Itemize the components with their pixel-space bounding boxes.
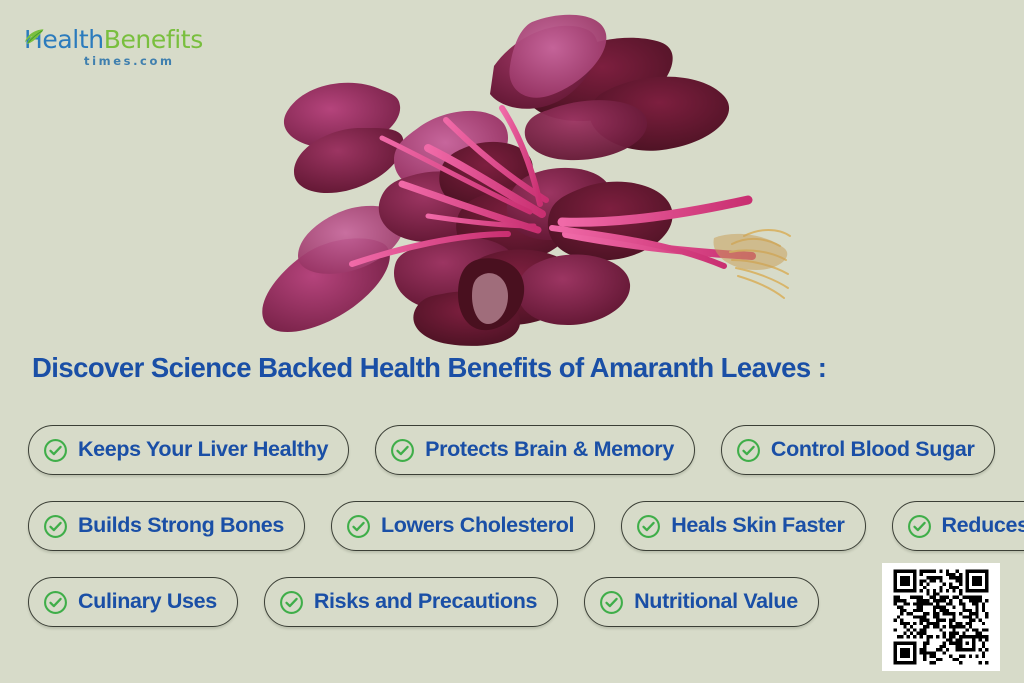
- check-circle-icon: [907, 514, 932, 539]
- check-circle-icon: [599, 590, 624, 615]
- benefit-pill-nutritional-value[interactable]: Nutritional Value: [584, 577, 819, 627]
- benefit-pill-reduces-swelling[interactable]: Reduces Swelling: [892, 501, 1024, 551]
- check-circle-icon: [43, 438, 68, 463]
- benefit-label: Reduces Swelling: [942, 515, 1024, 537]
- qr-code[interactable]: [882, 563, 1000, 671]
- benefit-pill-control-blood-sugar[interactable]: Control Blood Sugar: [721, 425, 996, 475]
- site-logo[interactable]: HealthBenefits times.com: [24, 26, 224, 76]
- check-circle-icon: [736, 438, 761, 463]
- benefits-row-1: Keeps Your Liver Healthy Protects Brain …: [28, 425, 1008, 475]
- benefit-label: Heals Skin Faster: [671, 515, 844, 537]
- benefit-label: Culinary Uses: [78, 591, 217, 613]
- benefit-pill-keeps-your-liver-healthy[interactable]: Keeps Your Liver Healthy: [28, 425, 349, 475]
- benefit-label: Nutritional Value: [634, 591, 798, 613]
- check-circle-icon: [43, 514, 68, 539]
- benefit-pill-culinary-uses[interactable]: Culinary Uses: [28, 577, 238, 627]
- benefit-label: Lowers Cholesterol: [381, 515, 574, 537]
- page-title: Discover Science Backed Health Benefits …: [32, 352, 992, 384]
- benefit-pill-protects-brain-and-memory[interactable]: Protects Brain & Memory: [375, 425, 695, 475]
- check-circle-icon: [636, 514, 661, 539]
- benefit-pill-risks-and-precautions[interactable]: Risks and Precautions: [264, 577, 558, 627]
- benefit-label: Protects Brain & Memory: [425, 439, 674, 461]
- benefit-pill-heals-skin-faster[interactable]: Heals Skin Faster: [621, 501, 865, 551]
- check-circle-icon: [43, 590, 68, 615]
- benefit-pill-builds-strong-bones[interactable]: Builds Strong Bones: [28, 501, 305, 551]
- benefit-pill-lowers-cholesterol[interactable]: Lowers Cholesterol: [331, 501, 595, 551]
- logo-subtext: times.com: [84, 54, 224, 68]
- logo-wordmark: HealthBenefits: [24, 26, 224, 53]
- check-circle-icon: [346, 514, 371, 539]
- benefits-row-3: Culinary Uses Risks and Precautions Nutr…: [28, 577, 1008, 627]
- benefit-label: Control Blood Sugar: [771, 439, 975, 461]
- amaranth-plant-image: [232, 8, 812, 348]
- logo-word-benefits: Benefits: [104, 25, 203, 54]
- benefits-row-2: Builds Strong Bones Lowers Cholesterol H…: [28, 501, 1008, 551]
- check-circle-icon: [279, 590, 304, 615]
- benefit-label: Keeps Your Liver Healthy: [78, 439, 328, 461]
- logo-word-health: Health: [24, 25, 104, 54]
- benefit-label: Builds Strong Bones: [78, 515, 284, 537]
- check-circle-icon: [390, 438, 415, 463]
- benefit-label: Risks and Precautions: [314, 591, 537, 613]
- infographic-canvas: HealthBenefits times.com: [0, 0, 1024, 683]
